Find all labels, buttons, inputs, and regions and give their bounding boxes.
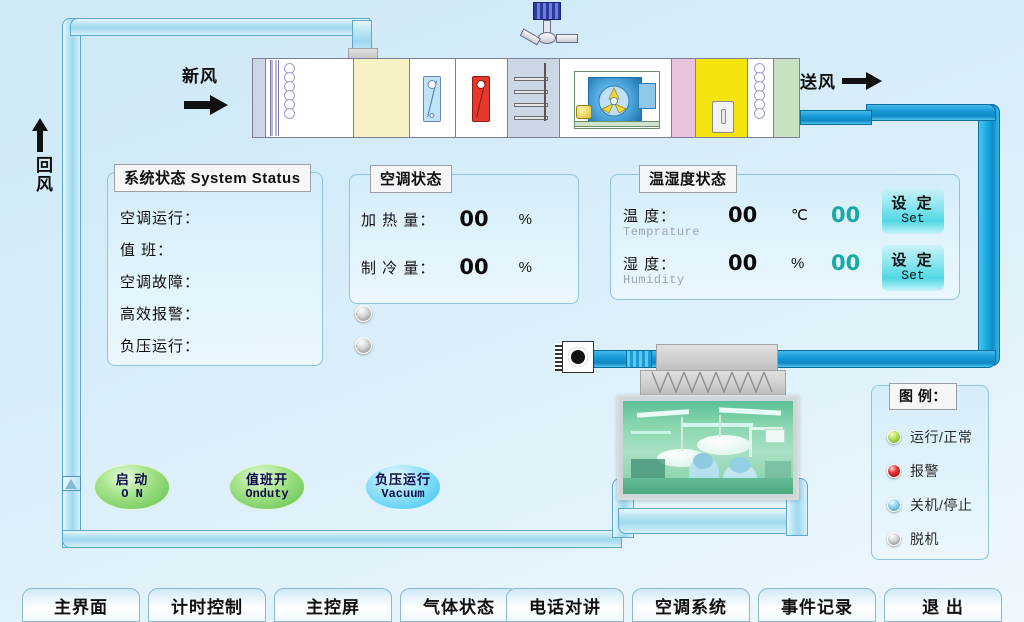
legend-item-stopped: 关机/停止: [887, 495, 972, 515]
legend-label-stopped: 关机/停止: [910, 495, 972, 515]
legend-item-offline: 脱机: [887, 529, 939, 549]
operating-room-image: [623, 401, 793, 494]
return-air-label: 回风: [30, 156, 55, 194]
ahu-fresh-air-damper: [252, 58, 266, 138]
status-row-negative-pressure: 负压运行：: [120, 332, 372, 358]
fan-flange-left: [555, 343, 562, 371]
nav-button-main-panel[interactable]: 主控屏: [274, 588, 392, 622]
nav-button-intercom[interactable]: 电话对讲: [506, 588, 624, 622]
nav-button-gas-status[interactable]: 气体状态: [400, 588, 518, 622]
start-button-en: O N: [121, 487, 143, 501]
cooling-output-row: 制 冷 量： 00 %: [361, 255, 532, 279]
temperature-value: 00: [728, 203, 757, 227]
heating-sensor-icon: [472, 76, 490, 122]
ahu-reheat-coil-loops: [754, 63, 766, 133]
temperature-set-button[interactable]: 设 定 Set: [882, 188, 944, 234]
cooling-output-label: 制 冷 量：: [361, 257, 435, 278]
onduty-button-en: Onduty: [245, 487, 288, 501]
nav-button-main-screen[interactable]: 主界面: [22, 588, 140, 622]
vacuum-button-cn: 负压运行: [375, 473, 431, 487]
hvac-status-panel: [349, 174, 579, 304]
status-lamp-negative-pressure: [355, 337, 372, 354]
supply-air-arrow-icon: [842, 70, 884, 92]
status-label-ac-fault: 空调故障：: [120, 271, 200, 292]
humidity-unit: %: [791, 255, 804, 272]
fresh-air-label: 新风: [182, 62, 218, 87]
nav-button-timer-control[interactable]: 计时控制: [148, 588, 266, 622]
return-duct-bottom: [62, 530, 622, 548]
temperature-set-button-en: Set: [901, 211, 924, 226]
temperature-row: 温 度：: [623, 205, 676, 226]
legend-label-running: 运行/正常: [910, 427, 972, 447]
humidity-sublabel: Humidity: [623, 273, 685, 287]
legend-lamp-offline: [887, 532, 901, 546]
legend-lamp-alarm: [887, 464, 901, 478]
status-lamp-hepa-alarm: [355, 305, 372, 322]
status-label-ac-run: 空调运行：: [120, 207, 200, 228]
nav-button-exit[interactable]: 退 出: [884, 588, 1002, 622]
nav-label-exit: 退 出: [922, 593, 964, 618]
vacuum-button[interactable]: 负压运行 Vacuum: [365, 464, 441, 510]
nav-button-hvac-system[interactable]: 空调系统: [632, 588, 750, 622]
humidity-row: 湿 度：: [623, 253, 676, 274]
nav-label-main-panel: 主控屏: [306, 593, 360, 618]
temperature-sublabel: Temprature: [623, 225, 700, 239]
legend-item-running: 运行/正常: [887, 427, 972, 447]
nav-label-gas-status: 气体状态: [423, 593, 495, 618]
humidity-set-button-cn: 设 定: [891, 253, 934, 269]
fan-impeller-icon: [598, 85, 630, 117]
heating-output-row: 加 热 量： 00 %: [361, 207, 532, 231]
valve-pipe-icon: [556, 34, 578, 43]
cooling-output-unit: %: [519, 259, 532, 276]
nav-label-intercom: 电话对讲: [529, 593, 601, 618]
ahu-preheat-coil-section: [266, 58, 354, 138]
nav-label-event-log: 事件记录: [781, 593, 853, 618]
main-canvas: 新风 送风 回风 系统状态 System Status 空调运行： 值 班： 空…: [0, 0, 1024, 622]
legend-lamp-stopped: [887, 498, 901, 512]
heating-output-value: 00: [459, 207, 488, 231]
status-row-ac-run: 空调运行：: [120, 204, 372, 230]
status-row-hepa-alarm: 高效报警：: [120, 300, 372, 326]
supply-air-label: 送风: [800, 68, 836, 93]
cooling-output-value: 00: [459, 255, 488, 279]
humidity-value: 00: [728, 251, 757, 275]
ahu-pink-filter-section: [672, 58, 696, 138]
fan-outlet: [638, 83, 656, 109]
return-duct-top: [70, 18, 370, 36]
ahu-prefilter-hatch: [270, 60, 279, 136]
fan-base-rail: [574, 121, 660, 127]
status-label-onduty: 值 班：: [120, 239, 173, 260]
nav-label-main-screen: 主界面: [54, 593, 108, 618]
hepa-plenum-top: [656, 344, 778, 372]
ahu-humidifier-section: [354, 58, 410, 138]
supply-fan-icon: [562, 341, 594, 373]
status-label-negative-pressure: 负压运行：: [120, 335, 200, 356]
legend-item-alarm: 报警: [887, 461, 939, 481]
ahu-cooling-sensor-section: [410, 58, 456, 138]
fresh-air-arrow-icon: [184, 92, 230, 118]
humidity-setpoint: 00: [831, 251, 860, 275]
valve-downpipe-icon: [520, 29, 541, 46]
ahu-reheat-coil-section: [748, 58, 774, 138]
ahu-yellow-filter-section: [696, 58, 748, 138]
air-handling-unit: [252, 58, 800, 138]
ahu-fan-section: [560, 58, 672, 138]
control-valve-actuator-icon: [533, 2, 561, 20]
heating-output-label: 加 热 量：: [361, 209, 435, 230]
status-row-onduty: 值 班：: [120, 236, 372, 262]
hepa-pleats-icon: [648, 372, 778, 394]
ahu-final-filter-section: [774, 58, 800, 138]
fan-motor-icon: [576, 105, 592, 119]
cooling-sensor-icon: [423, 76, 441, 122]
start-button-cn: 启 动: [116, 473, 149, 487]
flex-connector: [626, 350, 652, 368]
legend-title: 图 例：: [889, 383, 957, 410]
onduty-button[interactable]: 值班开 Onduty: [229, 464, 305, 510]
nav-label-timer-control: 计时控制: [171, 593, 243, 618]
heating-output-unit: %: [519, 211, 532, 228]
temperature-set-button-cn: 设 定: [891, 196, 934, 212]
humidity-set-button-en: Set: [901, 268, 924, 283]
temperature-label: 温 度：: [623, 205, 676, 226]
onduty-button-cn: 值班开: [246, 473, 288, 487]
humidity-set-button[interactable]: 设 定 Set: [882, 245, 944, 291]
status-label-hepa-alarm: 高效报警：: [120, 303, 200, 324]
temperature-setpoint: 00: [831, 203, 860, 227]
nav-button-event-log[interactable]: 事件记录: [758, 588, 876, 622]
return-duct-left: [62, 18, 81, 548]
hvac-status-title: 空调状态: [370, 165, 452, 193]
supply-duct-ahu-outlet: [800, 110, 872, 125]
nav-label-hvac-system: 空调系统: [655, 593, 727, 618]
access-door-handle-icon: [721, 109, 726, 124]
vacuum-button-en: Vacuum: [381, 487, 424, 501]
operating-room-monitor: [617, 395, 799, 500]
return-damper-arrow: [65, 479, 77, 489]
supply-duct-top-right: [866, 104, 996, 121]
temperature-unit: ℃: [791, 206, 808, 224]
humidity-label: 湿 度：: [623, 253, 676, 274]
ahu-spray-section: [508, 58, 560, 138]
return-air-arrow-icon: [30, 118, 50, 152]
system-status-title: 系统状态 System Status: [114, 164, 311, 192]
legend-label-alarm: 报警: [910, 461, 939, 481]
spray-header-icon: [514, 77, 548, 121]
legend-lamp-running: [887, 430, 901, 444]
status-row-ac-fault: 空调故障：: [120, 268, 372, 294]
or-bottom-plenum: [618, 508, 798, 534]
start-button[interactable]: 启 动 O N: [94, 464, 170, 510]
supply-duct-right-vertical: [978, 104, 1000, 366]
bottom-navbar: 主界面 计时控制 主控屏 气体状态 电话对讲 空调系统 事件记录 退 出: [0, 588, 1024, 622]
temp-humidity-title: 温湿度状态: [639, 165, 737, 193]
ahu-coil-loops: [284, 63, 296, 133]
legend-label-offline: 脱机: [910, 529, 939, 549]
ahu-heating-sensor-section: [456, 58, 508, 138]
